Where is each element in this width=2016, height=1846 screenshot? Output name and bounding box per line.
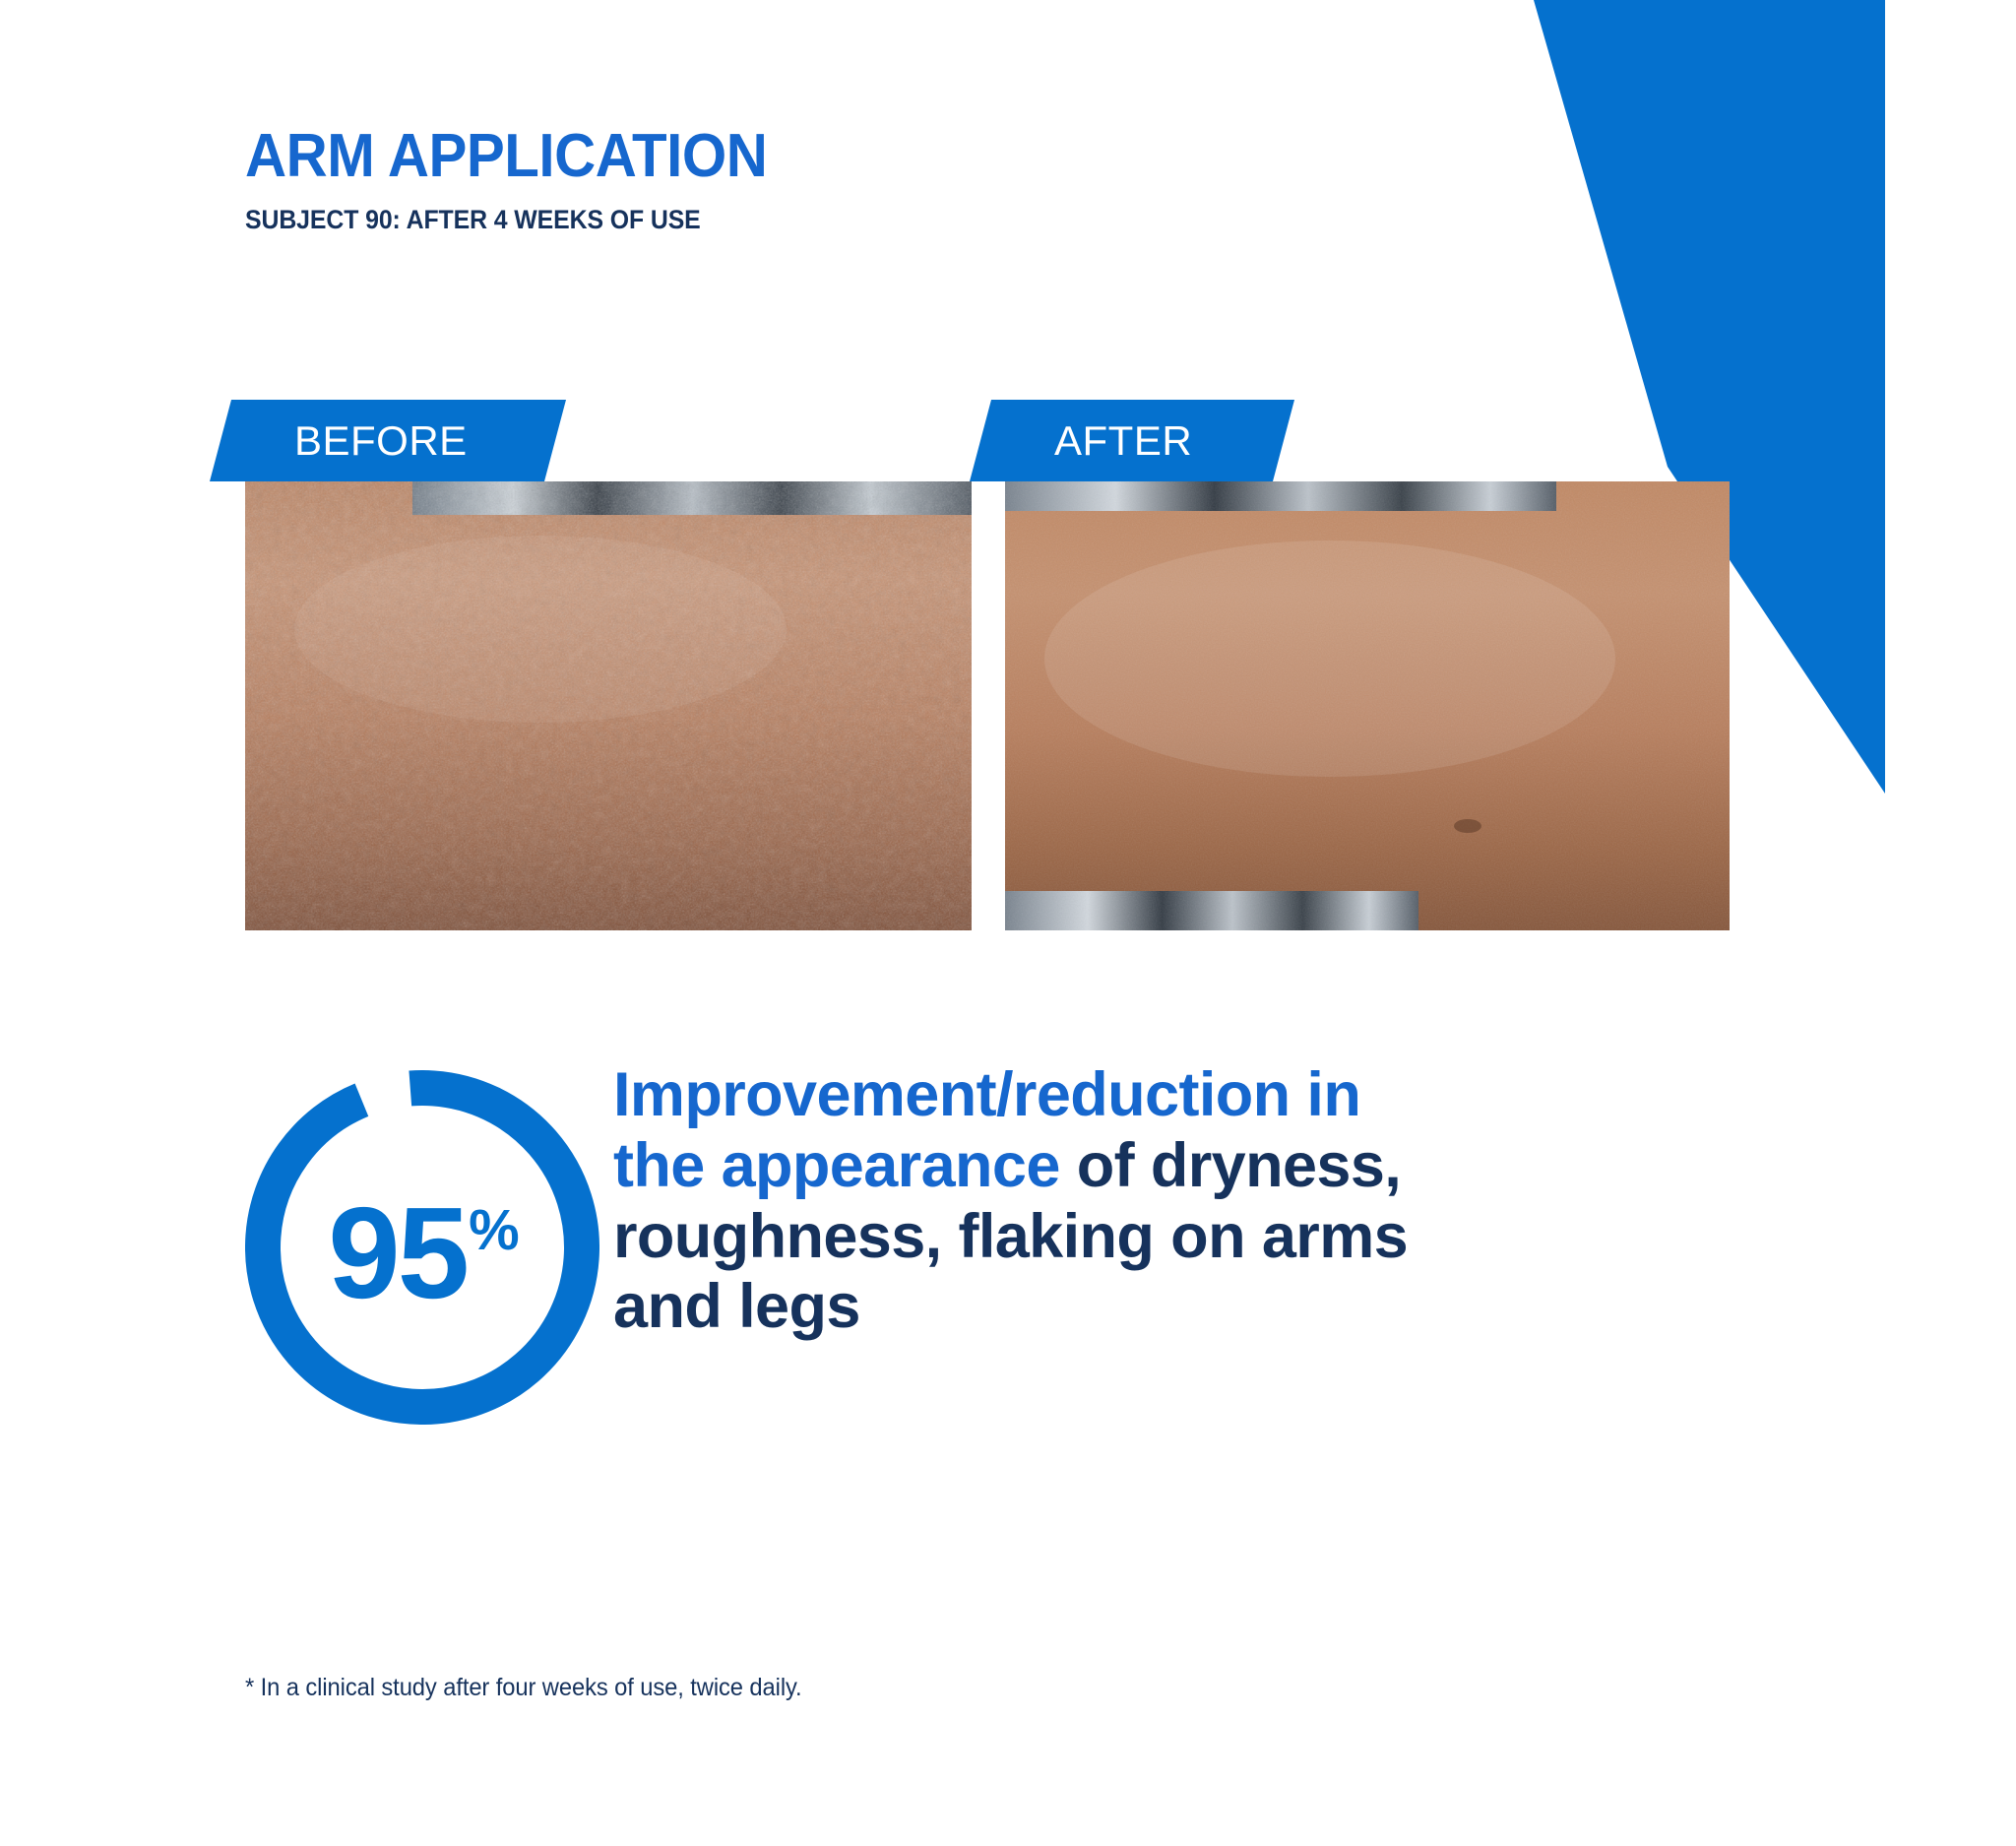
claim-line-1: Improvement/reduction in	[613, 1060, 1360, 1129]
before-photo	[245, 481, 972, 930]
donut-ring	[245, 1070, 599, 1425]
after-photo	[1005, 481, 1730, 930]
before-after-comparison: BEFORE	[0, 0, 2016, 985]
claim-line-2-highlight: the appearance	[613, 1131, 1060, 1200]
claim-line-4: and legs	[613, 1272, 860, 1341]
infographic-root: ARM APPLICATION SUBJECT 90: AFTER 4 WEEK…	[0, 0, 2016, 1846]
claim-line-3: roughness, flaking on arms	[613, 1202, 1408, 1271]
claim-line-2-rest: of dryness,	[1077, 1131, 1402, 1200]
after-skin-image	[1005, 481, 1730, 930]
after-label-text: AFTER	[1054, 417, 1192, 465]
before-label-text: BEFORE	[294, 417, 468, 465]
before-skin-image	[245, 481, 972, 930]
stat-section: 95 % Improvement/reduction in the appear…	[245, 1068, 1781, 1425]
stat-claim-text: Improvement/reduction in the appearance …	[613, 1060, 1781, 1343]
donut-progress-arc	[252, 1077, 593, 1418]
before-photo-card: BEFORE	[245, 481, 972, 930]
after-label-tab: AFTER	[970, 400, 1294, 481]
before-label-tab: BEFORE	[210, 400, 566, 481]
stat-donut-chart: 95 %	[245, 1070, 599, 1425]
footnote: * In a clinical study after four weeks o…	[245, 1674, 802, 1702]
after-photo-card: AFTER	[1005, 481, 1730, 930]
